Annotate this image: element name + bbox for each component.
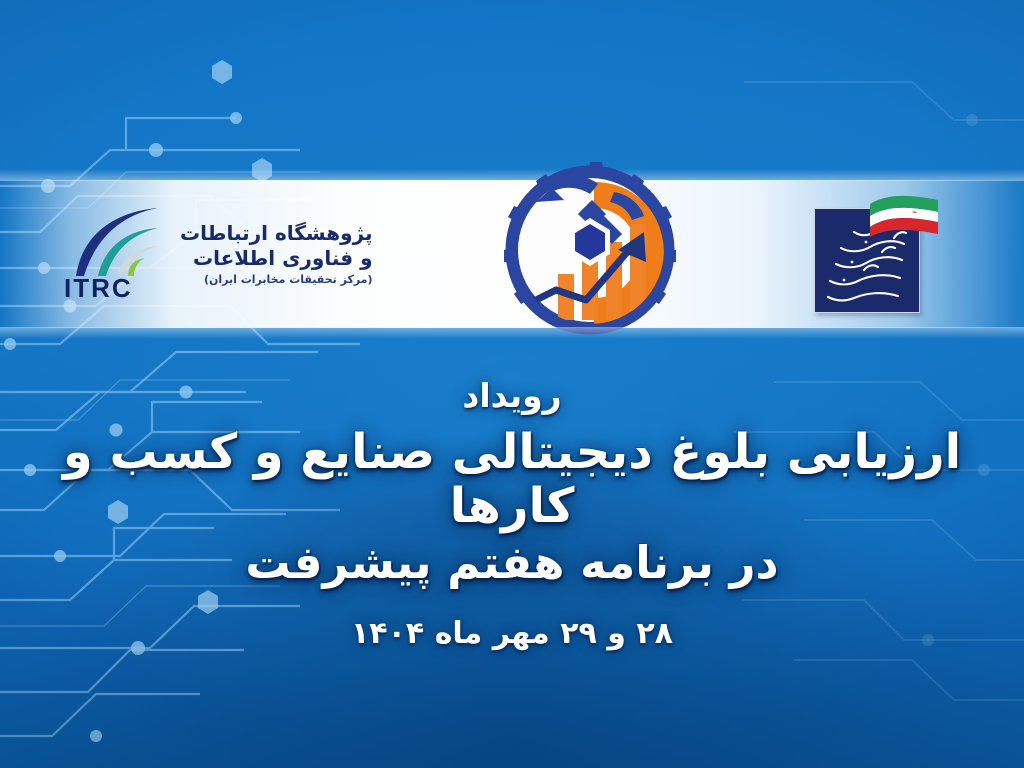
svg-text:10110101: 10110101	[494, 279, 508, 294]
itrc-line-2: و فناوری اطلاعات	[180, 246, 373, 270]
event-poster: 01001011 010101101 10110101 011	[0, 0, 1024, 768]
itrc-logo: پژوهشگاه ارتباطات و فناوری اطلاعات (مرکز…	[62, 202, 373, 306]
event-title-line-1: ارزیابی بلوغ دیجیتالی صنایع و کسب و کاره…	[0, 426, 1024, 534]
iran-flag-icon	[868, 192, 940, 238]
logo-band: 01001011 010101101 10110101 011	[0, 180, 1024, 328]
headline-block: رویداد ارزیابی بلوغ دیجیتالی صنایع و کسب…	[0, 378, 1024, 651]
itrc-mark: ITRC	[62, 202, 166, 306]
event-date: ۲۸ و ۲۹ مهر ماه ۱۴۰۴	[0, 616, 1024, 651]
itrc-wordmark: ITRC	[64, 273, 133, 304]
ministry-of-ict-logo	[808, 192, 940, 316]
event-title-line-2: در برنامه هفتم پیشرفت	[0, 538, 1024, 588]
itrc-line-1: پژوهشگاه ارتباطات	[180, 221, 373, 245]
itrc-subtitle: (مرکز تحقیقات مخابرات ایران)	[180, 273, 373, 286]
svg-text:010101101: 010101101	[494, 261, 506, 276]
digital-maturity-emblem: 01001011 010101101 10110101 011	[494, 158, 686, 338]
event-kicker: رویداد	[0, 378, 1024, 414]
itrc-text-block: پژوهشگاه ارتباطات و فناوری اطلاعات (مرکز…	[180, 221, 373, 286]
svg-text:011: 011	[495, 297, 519, 312]
